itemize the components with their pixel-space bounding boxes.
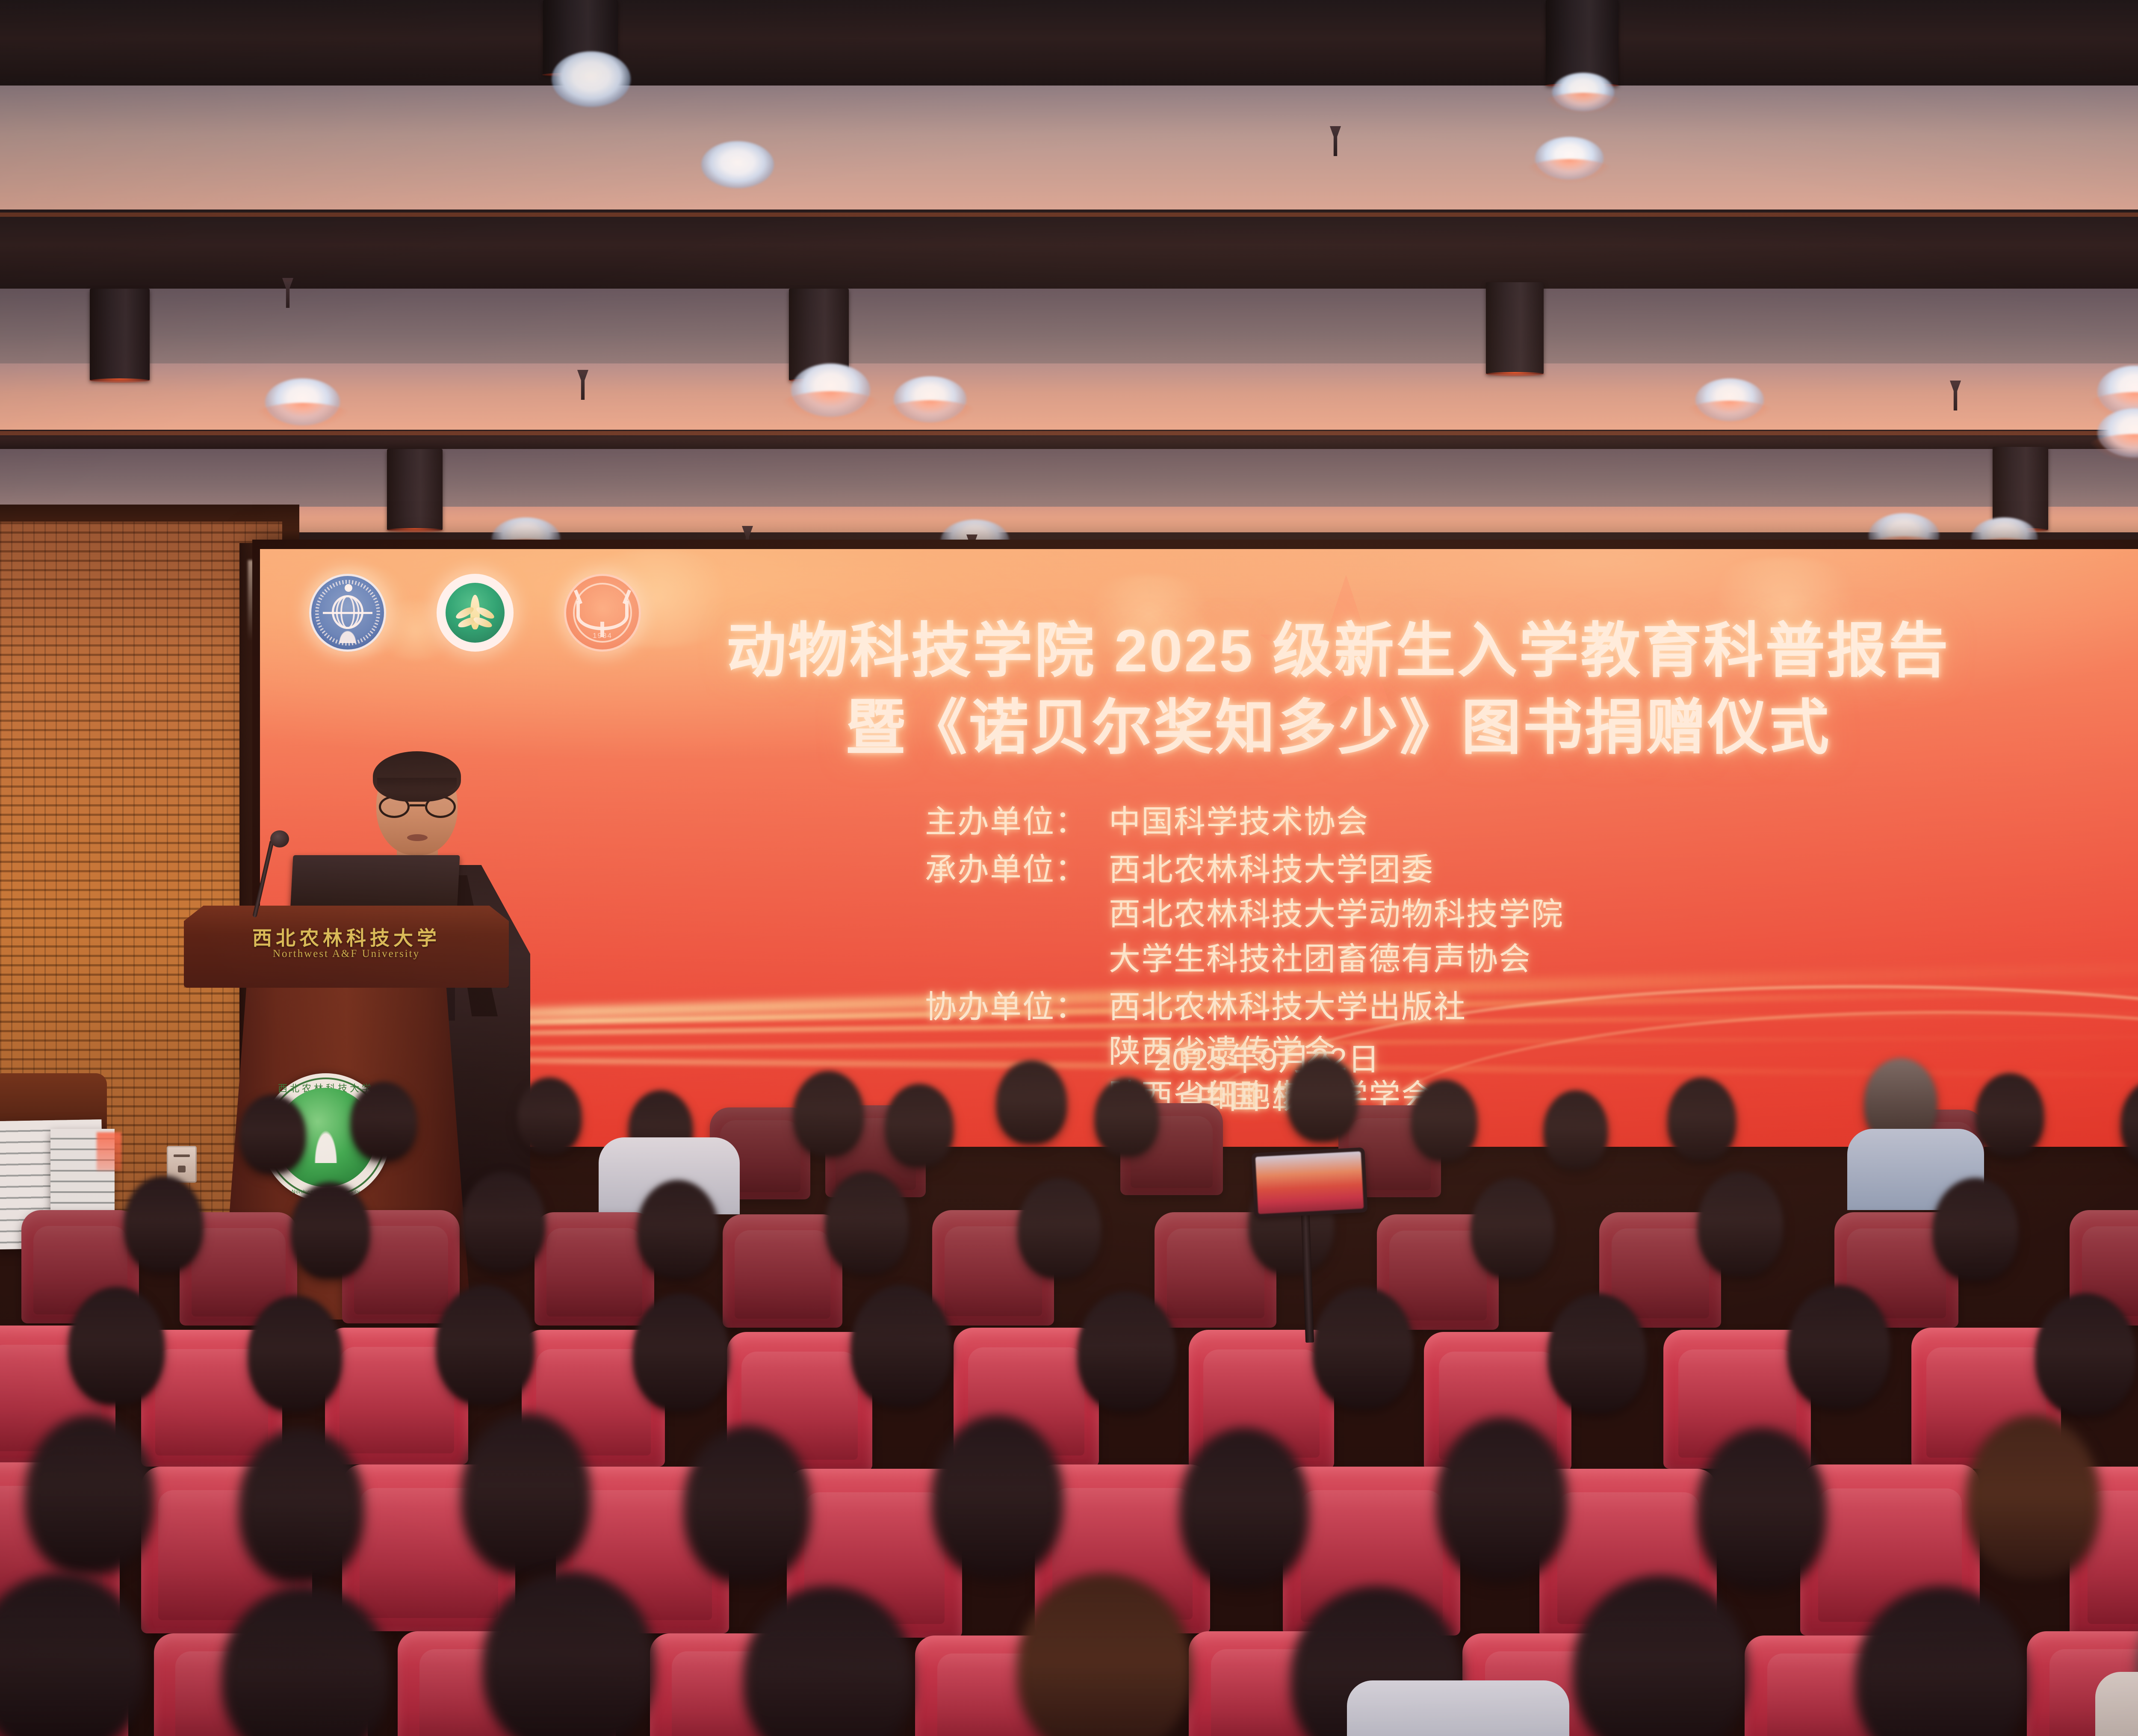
audience-head	[851, 1285, 951, 1407]
ceiling-spotlight	[1552, 73, 1614, 111]
credit-label-cohost: 协办单位：	[925, 986, 1109, 1027]
audience-head	[1698, 1428, 1826, 1588]
pendant-light	[387, 449, 443, 530]
audience-head	[239, 1428, 363, 1582]
ceiling-panel-5	[0, 507, 2138, 532]
audience-head	[1437, 1417, 1567, 1580]
audience-seating	[0, 1030, 2138, 1736]
ceiling-panel-4	[0, 449, 2138, 507]
audience-head	[932, 1415, 1063, 1578]
ceiling-beam-edge-3	[0, 431, 2138, 435]
audience-head	[1548, 1293, 1646, 1413]
pendant-light	[90, 289, 150, 381]
laptop-on-podium	[290, 855, 460, 913]
ceiling-spotlight	[265, 378, 340, 425]
audience-head	[1787, 1285, 1890, 1409]
audience-head	[1313, 1287, 1413, 1409]
audience-head	[26, 1415, 154, 1574]
credit-row-organizer: 主办单位： 中国科学技术协会	[925, 801, 2037, 846]
speaker-hair	[373, 751, 461, 802]
credit-values-organizer: 中国科学技术协会	[1109, 801, 1369, 846]
ceiling-beam-2	[0, 210, 2138, 289]
audience-head	[436, 1285, 534, 1405]
ceiling	[0, 0, 2138, 556]
audience-head	[885, 1084, 954, 1167]
audience-head	[2121, 1080, 2138, 1165]
audience-head	[825, 1172, 909, 1274]
audience-head	[124, 1176, 203, 1272]
credit-values-host: 西北农林科技大学团委 西北农林科技大学动物科技学院 大学生科技社团畜德有声协会	[1109, 849, 1564, 983]
audience-head	[0, 1574, 145, 1736]
podium-name-en: Northwest A&F University	[184, 948, 509, 960]
pendant-light	[1486, 282, 1544, 374]
audience-head	[1698, 1172, 1783, 1276]
credit-value: 中国科学技术协会	[1109, 801, 1369, 842]
audience-head	[1018, 1178, 1101, 1278]
ceiling-beam-1	[0, 0, 2138, 86]
audience-head	[996, 1060, 1067, 1144]
audience-head	[1411, 1080, 1477, 1161]
ceiling-spotlight	[1535, 137, 1603, 180]
audience-head	[684, 1426, 810, 1582]
audience-head	[68, 1287, 165, 1405]
audience-head	[1471, 1178, 1554, 1278]
smartphone-screen	[1255, 1151, 1364, 1214]
speaker-mouth	[407, 834, 428, 841]
smartphone-camera	[1251, 1147, 1368, 1218]
audience-head	[637, 1180, 718, 1278]
credit-label-organizer: 主办单位：	[925, 801, 1109, 842]
ceiling-spotlight	[894, 376, 966, 422]
audience-shoulders	[2095, 1672, 2138, 1736]
audience-head	[1180, 1428, 1308, 1586]
ceiling-spotlight	[701, 141, 774, 188]
audience-head	[1544, 1090, 1608, 1169]
banner-title-line-1: 动物科技学院 2025 级新生入学教育科普报告	[260, 621, 2138, 681]
banner-title-line-2: 暨《诺贝尔奖知多少》图书捐赠仪式	[260, 698, 2138, 758]
auditorium-photo: 1934 动物科技学院 2025 级新生入学教育科普报告 暨《诺贝尔奖知多少》图…	[0, 0, 2138, 1736]
audience-head	[239, 1095, 306, 1174]
credit-row-host: 承办单位： 西北农林科技大学团委 西北农林科技大学动物科技学院 大学生科技社团畜…	[925, 849, 2037, 983]
ceiling-spotlight	[791, 363, 870, 417]
ceiling-spotlight	[1695, 378, 1764, 421]
audience-head	[2035, 1293, 2136, 1415]
ceiling-panel-1	[0, 86, 2138, 210]
audience-shoulders	[1347, 1680, 1569, 1736]
audience-head	[1967, 1415, 2100, 1580]
credit-value: 西北农林科技大学团委	[1109, 849, 1564, 890]
credit-value: 西北农林科技大学出版社	[1109, 986, 1466, 1027]
ceiling-spotlight	[552, 51, 631, 107]
ceiling-panel-2	[0, 289, 2138, 363]
audience-head	[291, 1182, 370, 1278]
audience-head	[517, 1078, 582, 1154]
credit-value: 西北农林科技大学动物科技学院	[1109, 894, 1564, 935]
audience-head	[1976, 1073, 2044, 1157]
audience-head	[1287, 1056, 1358, 1142]
audience-head	[633, 1293, 729, 1411]
audience-head	[1933, 1178, 2018, 1281]
seat	[723, 1214, 842, 1328]
audience-head	[1095, 1078, 1159, 1157]
microphone-head-icon	[270, 830, 289, 847]
ceiling-beam-edge-2	[0, 213, 2138, 217]
podium-name-cn: 西北农林科技大学	[184, 923, 509, 951]
audience-head	[351, 1082, 417, 1161]
audience-head	[462, 1172, 545, 1272]
audience-head	[1668, 1078, 1736, 1161]
audience-head	[793, 1071, 864, 1157]
audience-head	[462, 1413, 590, 1574]
audience-head	[1078, 1291, 1176, 1411]
audience-head	[248, 1296, 342, 1411]
credit-label-host: 承办单位：	[925, 849, 1109, 890]
seat	[534, 1212, 654, 1326]
credit-value: 大学生科技社团畜德有声协会	[1109, 939, 1564, 980]
